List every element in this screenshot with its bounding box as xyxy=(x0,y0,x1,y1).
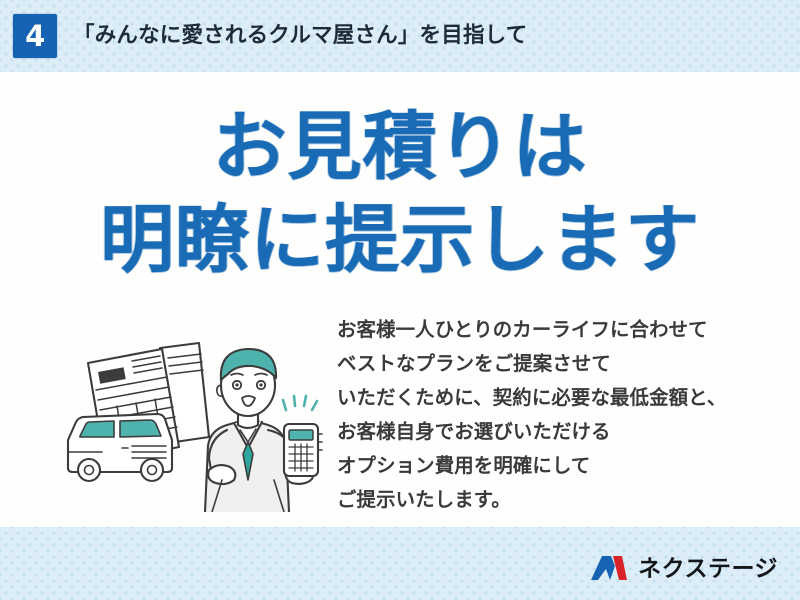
body-line: ベストなプランをご提案させて xyxy=(337,347,767,381)
headline-line-2: 明瞭に提示します xyxy=(0,193,800,286)
body-line: お客様一人ひとりのカーライフに合わせて xyxy=(337,313,767,347)
slide-root: 4 「みんなに愛されるクルマ屋さん」を目指して お見積りは 明瞭に提示します お… xyxy=(0,0,800,600)
body-copy: お客様一人ひとりのカーライフに合わせて ベストなプランをご提案させて いただくた… xyxy=(337,313,767,517)
body-line: ご提示いたします。 xyxy=(337,483,767,517)
body-line: お客様自身でお選びいただける xyxy=(337,415,767,449)
header-title: 「みんなに愛されるクルマ屋さん」を目指して xyxy=(73,25,527,47)
footer-logo: ネクステージ xyxy=(589,554,778,582)
headline: お見積りは 明瞭に提示します xyxy=(0,100,800,286)
calculator xyxy=(284,424,322,476)
van xyxy=(68,414,172,481)
step-badge-number: 4 xyxy=(25,22,45,51)
salesman-quote-car-illustration xyxy=(62,330,324,512)
header: 4 「みんなに愛されるクルマ屋さん」を目指して xyxy=(0,0,800,72)
nexstage-n-logo-icon xyxy=(589,554,629,582)
step-badge: 4 xyxy=(13,14,57,58)
body-line: オプション費用を明確にして xyxy=(337,449,767,483)
sparkle xyxy=(283,396,317,410)
body-line: いただくために、契約に必要な最低金額と、 xyxy=(337,381,767,415)
logo-wordmark: ネクステージ xyxy=(638,557,778,580)
headline-line-1: お見積りは xyxy=(0,100,800,193)
